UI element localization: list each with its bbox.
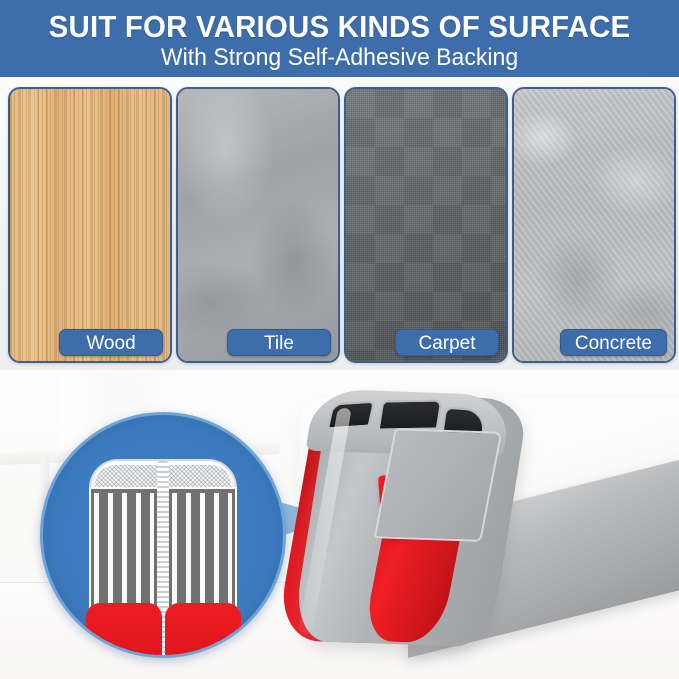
surface-label-tile: Tile bbox=[227, 329, 331, 356]
adhesive-tape-left bbox=[86, 603, 162, 658]
header-banner: SUIT FOR VARIOUS KINDS OF SURFACE With S… bbox=[0, 0, 679, 77]
page-title: SUIT FOR VARIOUS KINDS OF SURFACE bbox=[17, 9, 662, 45]
tile-texture bbox=[178, 89, 338, 361]
infographic-page: SUIT FOR VARIOUS KINDS OF SURFACE With S… bbox=[0, 0, 679, 679]
inner-panel bbox=[374, 428, 503, 542]
cross-section-callout bbox=[40, 412, 286, 658]
surface-swatch-carpet: Carpet bbox=[344, 87, 508, 363]
surface-swatch-concrete: Concrete bbox=[512, 87, 676, 363]
concrete-texture bbox=[514, 89, 674, 361]
surface-swatch-wood: Wood bbox=[8, 87, 172, 363]
surface-label-concrete: Concrete bbox=[560, 329, 667, 356]
surface-label-wood: Wood bbox=[59, 329, 163, 356]
wood-texture bbox=[10, 89, 170, 361]
product-seal-strip bbox=[288, 378, 679, 679]
surface-swatch-tile: Tile bbox=[176, 87, 340, 363]
carpet-texture bbox=[346, 89, 506, 361]
page-subtitle: With Strong Self-Adhesive Backing bbox=[14, 44, 666, 72]
adhesive-tape-right bbox=[165, 603, 241, 658]
surface-label-carpet: Carpet bbox=[395, 329, 499, 356]
hollow-chamber bbox=[378, 399, 443, 430]
surface-swatch-row: Wood Tile Carpet Concrete bbox=[0, 77, 679, 370]
